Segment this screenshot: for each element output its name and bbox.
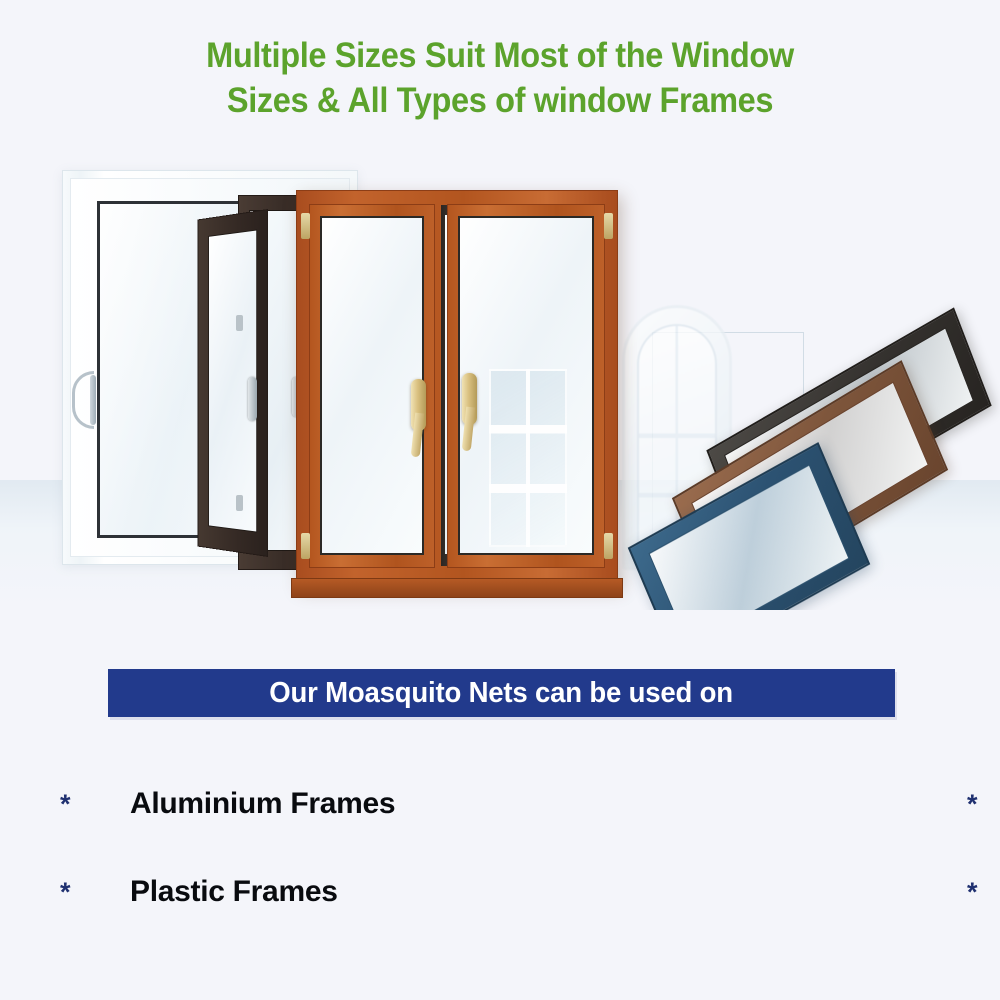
page-title-line-1: Multiple Sizes Suit Most of the Window [35, 34, 965, 79]
usage-banner-text: Our Moasquito Nets can be used on [270, 677, 734, 710]
page-title: Multiple Sizes Suit Most of the Window S… [35, 34, 965, 124]
wood-window-handle-left-icon [411, 379, 426, 431]
page-title-line-2: Sizes & All Types of window Frames [35, 79, 965, 124]
wood-hinge-top-right-icon [604, 213, 613, 239]
dark-window-hinge-bottom-icon [236, 495, 243, 511]
wood-sash-right-glass [458, 216, 594, 555]
list-item: * Wooden Frames [455, 760, 1000, 848]
dark-window-handle-left-icon [248, 377, 257, 421]
window-frames-hero-image [0, 140, 1000, 610]
dark-window-open-leaf [198, 209, 268, 557]
list-item: * Plastic Frames [0, 848, 455, 936]
frame-types-list: * Aluminium Frames * Wooden Frames * Pla… [0, 760, 1000, 936]
usage-banner: Our Moasquito Nets can be used on [108, 669, 895, 717]
asterisk-icon: * [967, 791, 989, 818]
wood-hinge-bottom-left-icon [301, 533, 310, 559]
wood-hinge-bottom-right-icon [604, 533, 613, 559]
dark-window-hinge-top-icon [236, 315, 243, 331]
wood-window-sill [291, 578, 623, 598]
list-item-label: Plastic Frames [130, 875, 338, 909]
wood-sash-left-glass [320, 216, 424, 555]
list-item: * UPVC Frames & more... [455, 848, 1000, 936]
asterisk-icon: * [967, 879, 989, 906]
wood-hinge-top-left-icon [301, 213, 310, 239]
list-item: * Aluminium Frames [0, 760, 455, 848]
wooden-double-casement-window [296, 190, 618, 585]
asterisk-icon: * [60, 791, 82, 818]
asterisk-icon: * [60, 879, 82, 906]
list-item-label: Aluminium Frames [130, 787, 395, 821]
sliding-door-handle-icon [72, 371, 102, 429]
wood-window-handle-right-icon [462, 373, 477, 425]
